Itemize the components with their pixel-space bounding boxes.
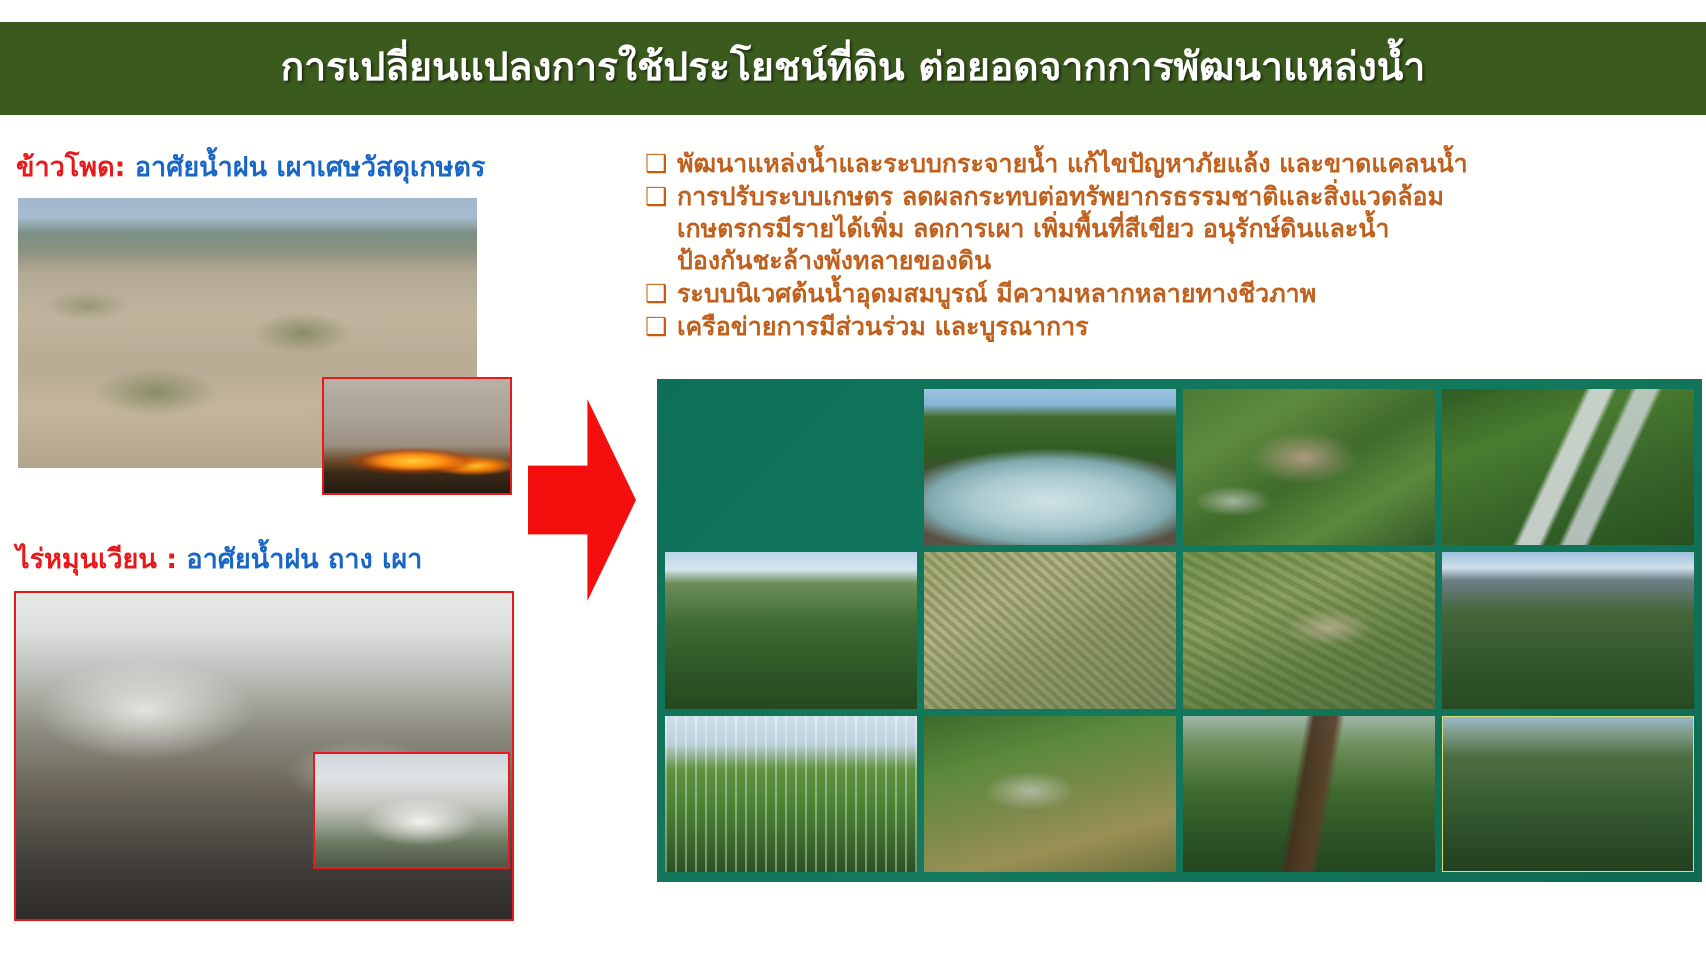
photo-lined-pond (924, 389, 1176, 545)
rotation-caption-blue: อาศัยน้ำฝน ถาง เผา (186, 544, 422, 575)
square-bullet-icon: ❑ (645, 181, 677, 213)
corn-caption-red: ข้าวโพด: (16, 152, 125, 183)
list-item-label: เครือข่ายการมีส่วนร่วม และบูรณาการ (677, 311, 1089, 343)
rotation-inset-photo-smoke (313, 752, 510, 869)
rotation-caption-red: ไร่หมุนเวียน : (16, 544, 177, 575)
photo-net-house (665, 716, 917, 872)
photo-green-valley-2 (1442, 552, 1694, 708)
list-item: ❑ ระบบนิเวศต้นน้ำอุดมสมบูรณ์ มีความหลากห… (645, 278, 1700, 310)
photo-mixed-farm (1183, 552, 1435, 708)
slide-root: การเปลี่ยนแปลงการใช้ประโยชน์ที่ดิน ต่อยอ… (0, 0, 1706, 959)
page-title: การเปลี่ยนแปลงการใช้ประโยชน์ที่ดิน ต่อยอ… (281, 47, 1426, 90)
photo-water-tanks (665, 389, 917, 545)
photo-village-aerial (1183, 389, 1435, 545)
list-item: ❑ เครือข่ายการมีส่วนร่วม และบูรณาการ (645, 311, 1700, 343)
outcomes-bullet-list: ❑ พัฒนาแหล่งน้ำและระบบกระจายน้ำ แก้ไขปัญ… (645, 148, 1700, 344)
photo-orchard-slope (924, 552, 1176, 708)
photo-forest-range (1442, 716, 1694, 872)
corn-caption-blue: อาศัยน้ำฝน เผาเศษวัสดุเกษตร (135, 152, 486, 183)
arrow-right-icon (528, 399, 636, 601)
photo-green-valley-1 (665, 552, 917, 708)
list-item-label: พัฒนาแหล่งน้ำและระบบกระจายน้ำ แก้ไขปัญหา… (677, 148, 1468, 180)
photo-coffee-under-forest (1183, 716, 1435, 872)
corn-inset-photo-burning (322, 377, 512, 495)
square-bullet-icon: ❑ (645, 311, 677, 343)
photo-terrace-signs (924, 716, 1176, 872)
square-bullet-icon: ❑ (645, 278, 677, 310)
photo-greenhouses (1442, 389, 1694, 545)
results-photo-grid (657, 379, 1702, 882)
corn-caption: ข้าวโพด: อาศัยน้ำฝน เผาเศษวัสดุเกษตร (16, 153, 485, 183)
list-item-label: การปรับระบบเกษตร ลดผลกระทบต่อทรัพยากรธรร… (677, 181, 1444, 277)
rotation-caption: ไร่หมุนเวียน : อาศัยน้ำฝน ถาง เผา (16, 545, 422, 575)
square-bullet-icon: ❑ (645, 148, 677, 180)
list-item: ❑ การปรับระบบเกษตร ลดผลกระทบต่อทรัพยากรธ… (645, 181, 1700, 277)
header-bar: การเปลี่ยนแปลงการใช้ประโยชน์ที่ดิน ต่อยอ… (0, 22, 1706, 115)
list-item-label: ระบบนิเวศต้นน้ำอุดมสมบูรณ์ มีความหลากหลา… (677, 278, 1316, 310)
list-item: ❑ พัฒนาแหล่งน้ำและระบบกระจายน้ำ แก้ไขปัญ… (645, 148, 1700, 180)
